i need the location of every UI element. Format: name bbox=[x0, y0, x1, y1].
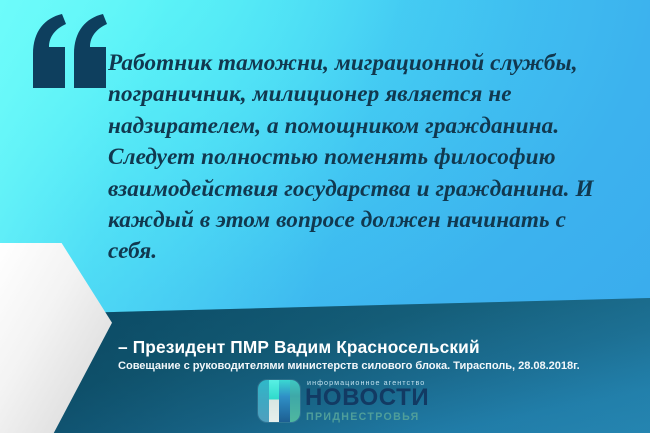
attribution-source: Совещание с руководителями министерств с… bbox=[118, 360, 580, 372]
logo-bar-3 bbox=[279, 380, 290, 422]
agency-logo: информационное агентство НОВОСТИ ПРИДНЕС… bbox=[258, 378, 476, 426]
logo-bar-2 bbox=[269, 380, 280, 422]
logo-bar-1 bbox=[258, 380, 269, 422]
attribution-author: – Президент ПМР Вадим Красносельский bbox=[118, 337, 480, 358]
logo-sub-text: ПРИДНЕСТРОВЬЯ bbox=[306, 412, 420, 423]
quote-text: Работник таможни, миграционной службы, п… bbox=[108, 48, 618, 268]
logo-main-text: НОВОСТИ bbox=[305, 386, 429, 410]
quotation-mark-icon bbox=[27, 14, 109, 88]
quote-card: Работник таможни, миграционной службы, п… bbox=[0, 0, 650, 433]
news-bars-logo-icon bbox=[258, 380, 300, 422]
logo-bar-4 bbox=[290, 380, 301, 422]
